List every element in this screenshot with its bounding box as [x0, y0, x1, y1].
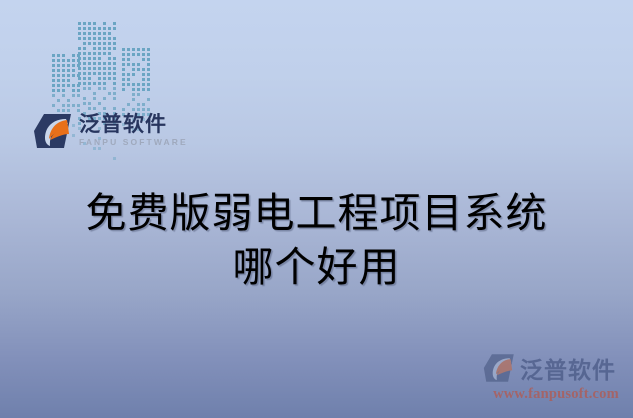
- watermark-logo-row: 泛普软件: [483, 348, 629, 388]
- headline-line-2: 哪个好用: [0, 240, 633, 294]
- brand-name-cn: 泛普软件: [79, 114, 188, 136]
- pixel-city-graphic: [52, 22, 152, 106]
- fanpu-logo-mark-svg: [33, 110, 75, 152]
- brand-logo: 泛普软件 FANPU SOFTWARE: [33, 106, 173, 156]
- page-title: 免费版弱电工程项目系统 哪个好用: [0, 186, 633, 294]
- fanpu-logo-mark-watermark-icon: [483, 351, 517, 385]
- brand-wordmark: 泛普软件 FANPU SOFTWARE: [79, 114, 188, 149]
- watermark: 泛普软件 www.fanpusoft.com: [483, 348, 629, 410]
- brand-name-en: FANPU SOFTWARE: [79, 136, 188, 149]
- promo-banner: 泛普软件 FANPU SOFTWARE 免费版弱电工程项目系统 哪个好用 泛普软…: [0, 0, 633, 418]
- watermark-url: www.fanpusoft.com: [483, 386, 629, 403]
- fanpu-logo-mark-icon: [33, 110, 75, 152]
- fanpu-logo-mark-watermark-svg: [483, 351, 517, 385]
- watermark-name-cn: 泛普软件: [520, 351, 616, 385]
- headline-line-1: 免费版弱电工程项目系统: [0, 186, 633, 240]
